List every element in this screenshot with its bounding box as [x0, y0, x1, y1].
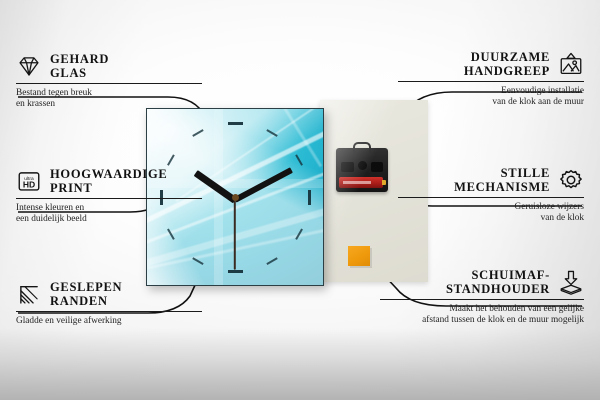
feature-title: DUURZAME HANDGREEP: [464, 50, 550, 78]
feature-divider: [380, 299, 584, 300]
feature-divider: [398, 197, 584, 198]
feature-title: GEHARD GLAS: [50, 52, 109, 80]
feature-hoogwaardige-print: ultra HD HOOGWAARDIGE PRINT Intense kleu…: [16, 167, 202, 226]
feature-stille-mechanisme: STILLE MECHANISME Geruisloze wijzers van…: [398, 166, 584, 225]
picture-frame-icon: [558, 51, 584, 77]
feature-title: STILLE MECHANISME: [454, 166, 550, 194]
feature-geslepen-randen: GESLEPEN RANDEN Gladde en veilige afwerk…: [16, 280, 202, 327]
feature-header: ultra HD HOOGWAARDIGE PRINT: [16, 167, 202, 195]
minute-hand: [234, 167, 293, 202]
battery-label-stripe: [343, 181, 371, 184]
beveled-edges-icon: [16, 281, 42, 307]
feature-title: SCHUIMAF- STANDHOUDER: [446, 268, 550, 296]
feature-divider: [398, 81, 584, 82]
feature-header: DUURZAME HANDGREEP: [398, 50, 584, 78]
feature-gehard-glas: GEHARD GLAS Bestand tegen breuk en krass…: [16, 52, 202, 111]
clock-movement-box: [336, 148, 388, 192]
diamond-icon: [16, 53, 42, 79]
gear-icon: [558, 167, 584, 193]
foam-spacer-icon: [558, 269, 584, 295]
feature-header: GEHARD GLAS: [16, 52, 202, 80]
infographic-canvas: GEHARD GLAS Bestand tegen breuk en krass…: [0, 0, 600, 400]
svg-text:HD: HD: [23, 180, 35, 190]
feature-divider: [16, 83, 202, 84]
battery-positive-pole: [382, 180, 386, 185]
feature-divider: [16, 198, 202, 199]
feature-header: SCHUIMAF- STANDHOUDER: [380, 268, 584, 296]
feature-title: HOOGWAARDIGE PRINT: [50, 167, 167, 195]
clock-hanger-bracket: [353, 142, 371, 153]
movement-detail-center: [358, 161, 367, 170]
clock-center-pin: [232, 194, 239, 201]
second-hand: [234, 198, 236, 270]
movement-detail-right: [371, 162, 383, 172]
feature-duurzame-handgreep: DUURZAME HANDGREEP Eenvoudige installati…: [398, 50, 584, 109]
feature-divider: [16, 311, 202, 312]
feature-header: STILLE MECHANISME: [398, 166, 584, 194]
feature-schuimafstandhouder: SCHUIMAF- STANDHOUDER Maakt het behouden…: [380, 268, 584, 327]
battery: [339, 177, 383, 188]
movement-detail-left: [341, 162, 354, 172]
foam-spacer-pad: [348, 246, 370, 266]
feature-header: GESLEPEN RANDEN: [16, 280, 202, 308]
ultra-hd-icon: ultra HD: [16, 168, 42, 194]
feature-title: GESLEPEN RANDEN: [50, 280, 122, 308]
